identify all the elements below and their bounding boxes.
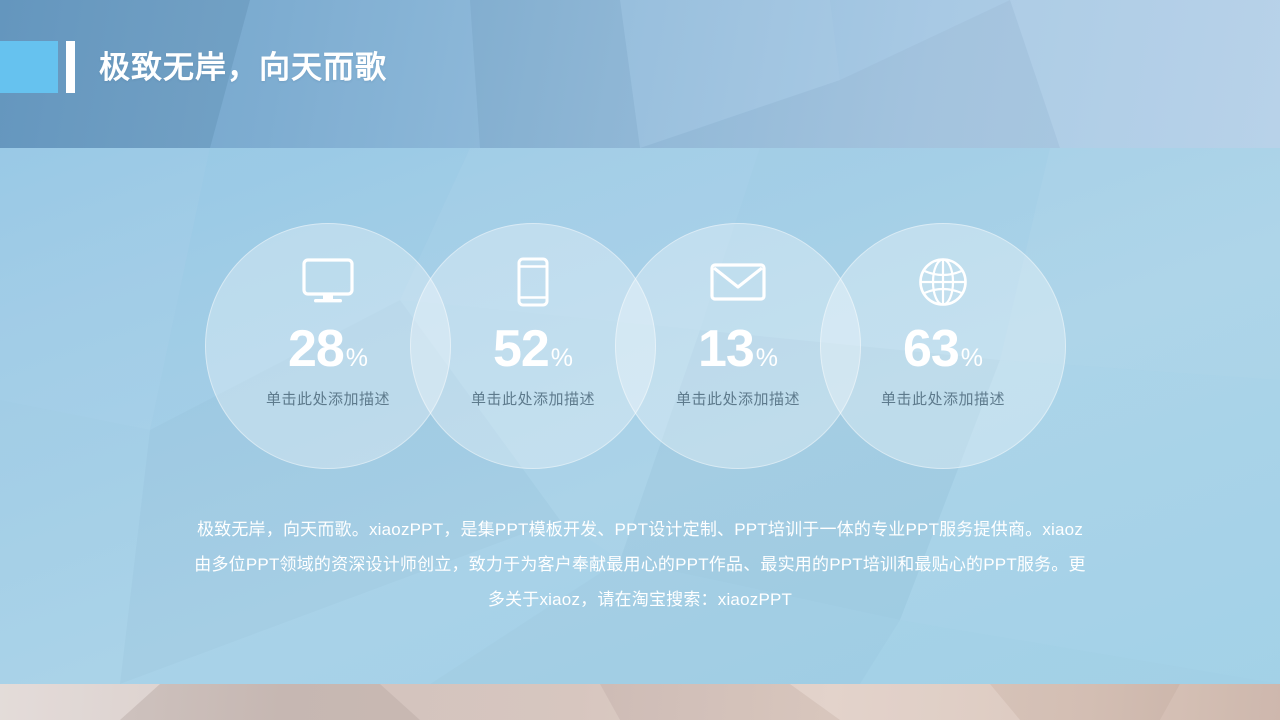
smartphone-icon: [517, 253, 549, 311]
stat-unit-1: %: [346, 346, 368, 371]
stat-description-2: 单击此处添加描述: [471, 388, 595, 409]
envelope-icon: [710, 253, 766, 311]
body-paragraph: 极致无岸，向天而歌。xiaozPPT，是集PPT模板开发、PPT设计定制、PPT…: [190, 512, 1090, 617]
bottom-band: [0, 684, 1280, 720]
stat-value-1: 28 %: [288, 323, 368, 375]
stat-description-3: 单击此处添加描述: [676, 388, 800, 409]
stat-number-1: 28: [288, 323, 344, 375]
stat-circle-4[interactable]: 63 % 单击此处添加描述: [820, 223, 1066, 469]
stat-unit-3: %: [756, 346, 778, 371]
stat-value-4: 63 %: [903, 323, 983, 375]
stat-unit-4: %: [961, 346, 983, 371]
stat-description-1: 单击此处添加描述: [266, 388, 390, 409]
stat-number-2: 52: [493, 323, 549, 375]
stat-value-3: 13 %: [698, 323, 778, 375]
slide: 极致无岸，向天而歌 28 % 单击此处添加描述: [0, 0, 1280, 720]
monitor-icon: [301, 253, 355, 311]
bottom-polygons: [0, 684, 1280, 720]
stat-value-2: 52 %: [493, 323, 573, 375]
stat-unit-2: %: [551, 346, 573, 371]
stat-number-3: 13: [698, 323, 754, 375]
stat-description-4: 单击此处添加描述: [881, 388, 1005, 409]
stat-number-4: 63: [903, 323, 959, 375]
globe-icon: [918, 253, 968, 311]
